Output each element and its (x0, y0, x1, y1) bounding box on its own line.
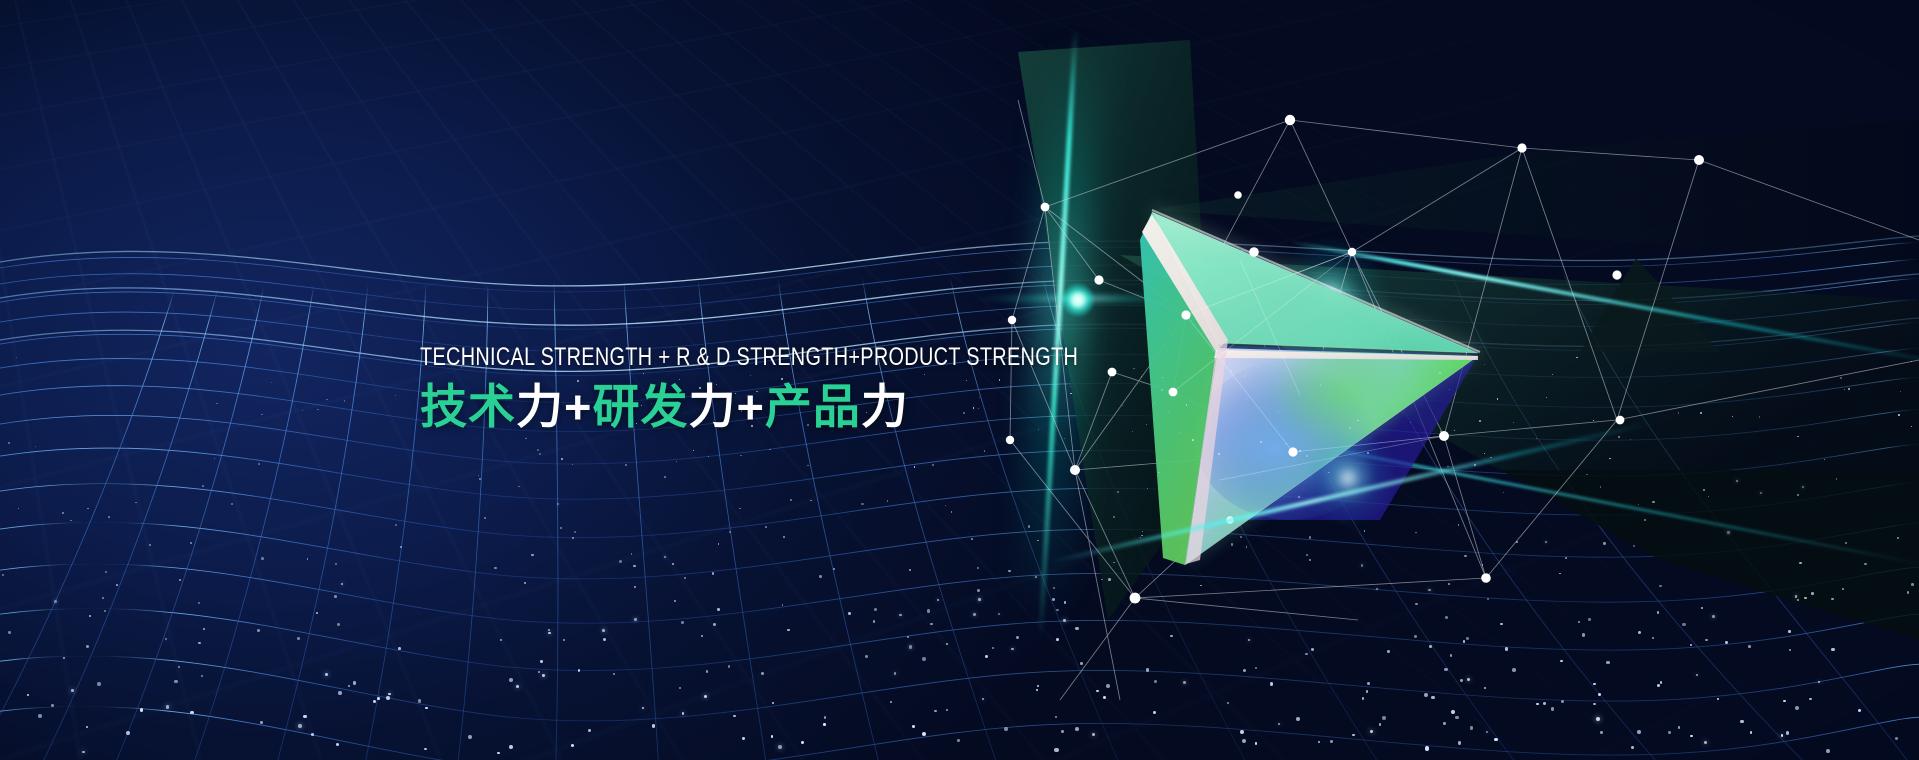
headline-cn-part-4: 力 (688, 380, 736, 433)
headline-cn-part-1: 力 (516, 380, 564, 433)
headline-cn-part-6: 产品 (765, 380, 861, 433)
wireframe-terrain-mesh (0, 228, 1919, 760)
terrain-mesh-svg (0, 228, 1919, 760)
headline-english: TECHNICAL STRENGTH + R & D STRENGTH+PROD… (420, 344, 929, 371)
headline-cn-part-2: + (564, 380, 592, 433)
headline-cn-part-7: 力 (861, 380, 909, 433)
headline-chinese: 技术力+研发力+产品力 (420, 381, 1060, 434)
hero-banner: TECHNICAL STRENGTH + R & D STRENGTH+PROD… (0, 0, 1919, 760)
headline-cn-part-5: + (736, 380, 764, 433)
headline-cn-part-0: 技术 (420, 380, 516, 433)
headline-text-block: TECHNICAL STRENGTH + R & D STRENGTH+PROD… (420, 344, 1060, 433)
headline-cn-part-3: 研发 (592, 380, 688, 433)
